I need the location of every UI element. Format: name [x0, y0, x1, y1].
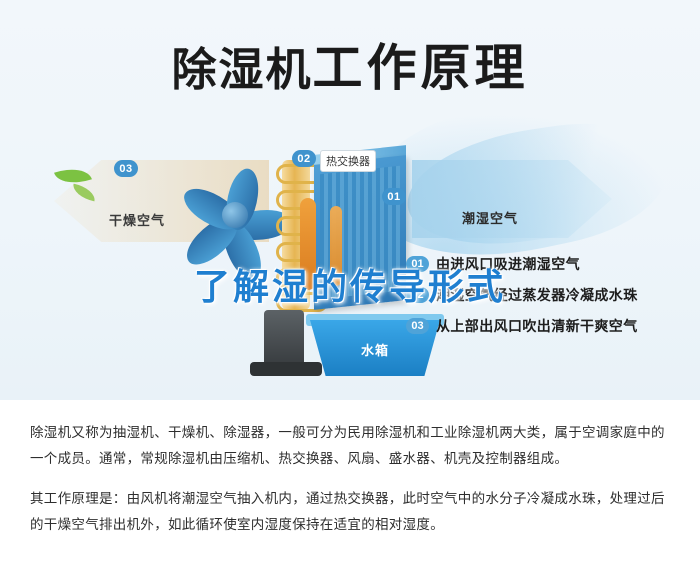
step-text: 潮湿空气经过蒸发器冷凝成水珠 [436, 285, 638, 305]
evaporator-coil [300, 198, 316, 290]
illustration-panel: 除湿机工作原理 干燥空气 [0, 0, 700, 400]
evaporator-coil-2 [330, 206, 342, 286]
step-text: 由进风口吸进潮湿空气 [436, 254, 580, 274]
badge-02: 02 [292, 150, 316, 167]
description-section: 除湿机又称为抽湿机、干燥机、除湿器，一般可分为民用除湿机和工业除湿机两大类，属于… [0, 400, 700, 566]
step-number: 03 [406, 318, 429, 334]
step-item: 02 潮湿空气经过蒸发器冷凝成水珠 [406, 285, 676, 305]
moist-air-label: 潮湿空气 [462, 208, 518, 227]
step-text: 从上部出风口吹出清新干爽空气 [436, 316, 638, 336]
badge-01: 01 [382, 188, 406, 205]
title-part1: 除湿机 [171, 44, 312, 95]
description-paragraph-2: 其工作原理是：由风机将潮湿空气抽入机内，通过热交换器，此时空气中的水分子冷凝成水… [30, 486, 670, 538]
heat-exchanger-chip: 热交换器 [320, 150, 376, 172]
page-root: 除湿机工作原理 干燥空气 [0, 0, 700, 566]
illustration-inner: 除湿机工作原理 干燥空气 [14, 10, 686, 390]
step-number: 02 [406, 287, 429, 303]
dry-air-label: 干燥空气 [109, 210, 165, 229]
page-title: 除湿机工作原理 [14, 28, 686, 100]
step-number: 01 [406, 256, 429, 272]
steps-list: 01 由进风口吸进潮湿空气 02 潮湿空气经过蒸发器冷凝成水珠 03 从上部出风… [406, 254, 676, 347]
step-item: 03 从上部出风口吹出清新干爽空气 [406, 316, 676, 336]
title-part2: 工作原理 [313, 40, 529, 96]
description-paragraph-1: 除湿机又称为抽湿机、干燥机、除湿器，一般可分为民用除湿机和工业除湿机两大类，属于… [30, 420, 670, 472]
step-item: 01 由进风口吸进潮湿空气 [406, 254, 676, 274]
machine-base [250, 362, 322, 376]
fan-hub [222, 202, 248, 228]
badge-03: 03 [114, 160, 138, 177]
